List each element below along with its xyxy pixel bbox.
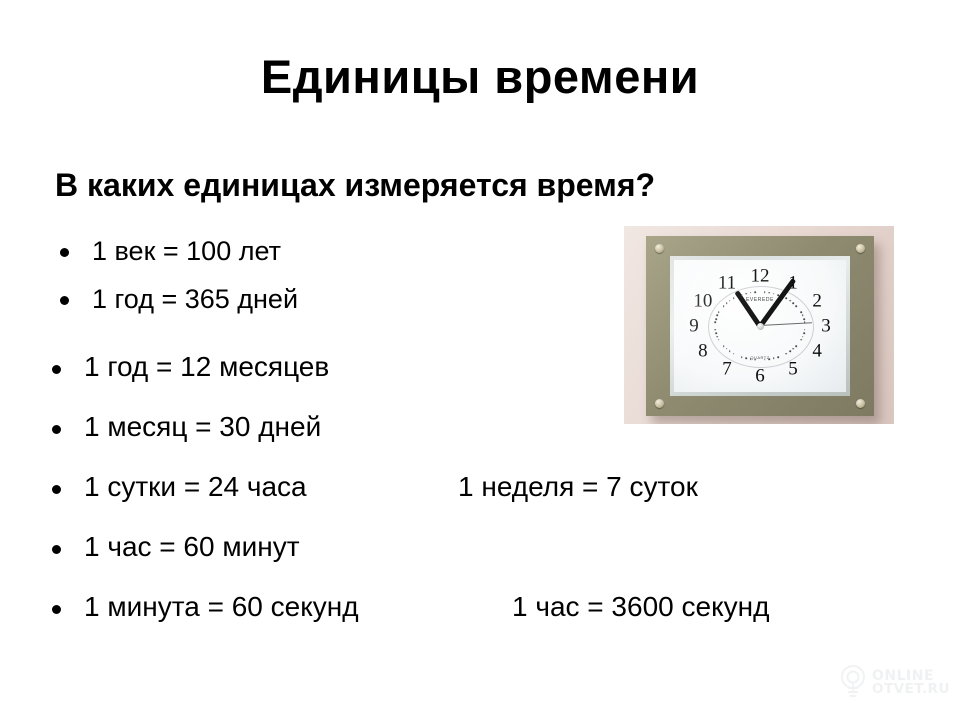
clock-minute-tick [750, 358, 752, 360]
clock-minute-tick [789, 350, 791, 352]
unit-equation-primary: 1 год = 12 месяцев [84, 348, 329, 386]
clock-minute-tick [745, 358, 747, 360]
clock-frame: EVEREDE QUARTZ 121234567891011 [646, 236, 874, 416]
bullet-icon [52, 605, 61, 614]
clock-minute-tick [723, 305, 725, 307]
clock-minute-tick [750, 292, 752, 294]
clock-numeral: 9 [689, 317, 699, 336]
lightbulb-icon [838, 663, 868, 704]
unit-equation-primary: 1 месяц = 30 дней [84, 408, 321, 446]
clock-numeral: 12 [751, 267, 770, 286]
clock-minute-tick [786, 353, 788, 355]
wall-clock-image: EVEREDE QUARTZ 121234567891011 [624, 226, 894, 424]
clock-minute-tick [729, 300, 731, 302]
clock-minute-tick [800, 339, 802, 341]
clock-minute-tick [789, 300, 791, 302]
clock-brand-text: EVEREDE [746, 297, 774, 303]
clock-face: EVEREDE QUARTZ 121234567891011 [674, 260, 846, 392]
clock-minute-tick [764, 359, 766, 361]
clock-numeral: 5 [788, 360, 798, 379]
clock-minute-tick [802, 336, 804, 338]
unit-equation-primary: 1 сутки = 24 часа [84, 468, 307, 506]
clock-minute-tick [714, 322, 716, 324]
clock-minute-tick [754, 359, 756, 361]
watermark-text: ONLINE OTVET.RU [872, 669, 950, 697]
clock-numeral: 8 [698, 342, 708, 361]
clock-numeral: 1 [788, 273, 798, 292]
screw-icon [655, 399, 664, 408]
clock-minute-tick [786, 298, 788, 300]
unit-equation-primary: 1 век = 100 лет [92, 234, 281, 268]
clock-minute-tick [716, 315, 718, 317]
unit-equation-primary: 1 год = 365 дней [92, 282, 298, 316]
clock-minute-tick [715, 332, 717, 334]
bullet-icon [52, 485, 61, 494]
clock-minute-tick [796, 345, 798, 347]
clock-minute-tick [778, 294, 780, 296]
clock-subdial-text: QUARTZ [750, 355, 769, 360]
unit-equation-primary: 1 час = 60 минут [84, 528, 300, 566]
watermark: ONLINE OTVET.RU [838, 660, 950, 706]
clock-minute-tick [754, 291, 756, 293]
clock-minute-tick [773, 293, 775, 295]
clock-minute-tick [726, 302, 728, 304]
clock-numeral: 7 [722, 360, 732, 379]
clock-numeral: 6 [755, 367, 765, 386]
clock-numeral: 10 [693, 292, 712, 311]
clock-minute-tick [714, 329, 716, 331]
clock-minute-tick [745, 293, 747, 295]
list-item: 1 сутки = 24 часа1 неделя = 7 суток [0, 468, 960, 528]
bullet-icon [52, 365, 61, 374]
clock-minute-tick [723, 345, 725, 347]
clock-minute-tick [733, 353, 735, 355]
clock-minute-tick [778, 356, 780, 358]
bullet-icon [52, 545, 61, 554]
clock-minute-tick [718, 311, 720, 313]
clock-minute-tick [802, 315, 804, 317]
question-heading: В каких единицах измеряется время? [55, 168, 655, 203]
clock-minute-tick [764, 291, 766, 293]
clock-minute-tick [718, 339, 720, 341]
list-item: 1 час = 60 минут [0, 528, 960, 588]
clock-numeral: 2 [812, 292, 822, 311]
unit-equation-primary: 1 минута = 60 секунд [84, 588, 359, 626]
clock-minute-tick [804, 322, 806, 324]
bullet-icon [60, 248, 69, 257]
clock-numeral: 3 [821, 317, 831, 336]
bullet-icon [52, 425, 61, 434]
clock-minute-tick [793, 302, 795, 304]
list-item: 1 минута = 60 секунд1 час = 3600 секунд [0, 588, 960, 648]
clock-minute-tick [729, 350, 731, 352]
clock-minute-tick [716, 336, 718, 338]
clock-center-cap [757, 323, 764, 330]
clock-minute-tick [769, 358, 771, 360]
page-title: Единицы времени [0, 52, 960, 101]
screw-icon [856, 244, 865, 253]
clock-numeral: 4 [812, 342, 822, 361]
screw-icon [856, 399, 865, 408]
clock-numeral: 11 [718, 273, 736, 292]
unit-equation-secondary: 1 час = 3600 секунд [512, 588, 769, 626]
clock-minute-tick [793, 348, 795, 350]
clock-minute-tick [741, 294, 743, 296]
clock-minute-tick [733, 298, 735, 300]
clock-minute-tick [715, 318, 717, 320]
clock-minute-tick [803, 318, 805, 320]
clock-minute-tick [773, 358, 775, 360]
watermark-line-2: OTVET.RU [872, 683, 950, 697]
clock-minute-tick [796, 305, 798, 307]
clock-minute-tick [741, 356, 743, 358]
clock-minute-tick [726, 348, 728, 350]
clock-minute-tick [800, 311, 802, 313]
screw-icon [655, 244, 664, 253]
bullet-icon [60, 296, 69, 305]
clock-minute-tick [803, 332, 805, 334]
clock-minute-tick [769, 292, 771, 294]
clock-minute-tick [804, 329, 806, 331]
unit-equation-secondary: 1 неделя = 7 суток [458, 468, 698, 506]
